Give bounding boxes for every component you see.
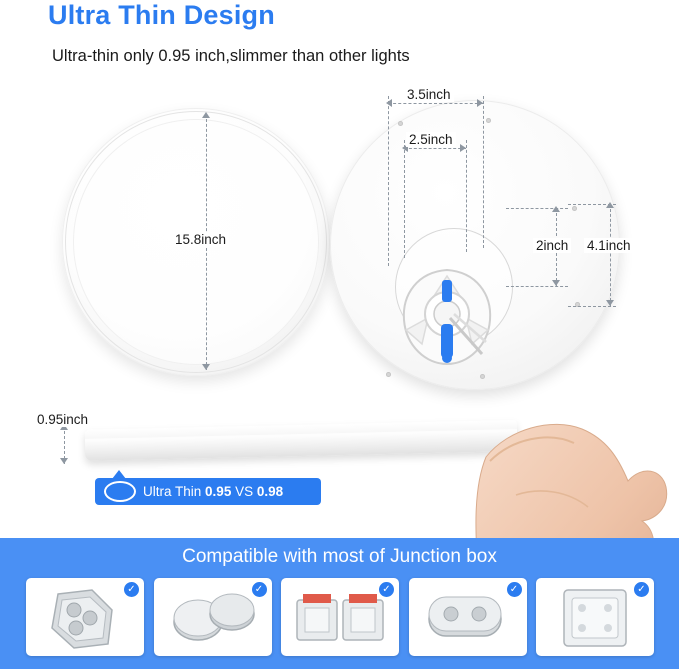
thickness-arrow-bottom [60,458,68,464]
outer-spacing-guide-bottom [568,306,616,307]
junction-box-card-2[interactable]: ✓ [154,578,272,656]
screw-hole [386,372,391,377]
thin-badge-text: Ultra Thin 0.95 VS 0.98 [143,484,283,499]
bracket-width-arrow-left [386,99,392,107]
hole-spacing-arrow-top [552,206,560,212]
bracket-width-line [388,103,483,104]
check-icon: ✓ [252,582,267,597]
thin-badge-prefix: Ultra Thin [143,484,201,499]
junction-box-card-3[interactable]: ✓ [281,578,399,656]
page-subtitle: Ultra-thin only 0.95 inch,slimmer than o… [52,47,410,66]
bracket-width-label: 3.5inch [404,87,454,102]
mounting-bracket-icon [382,258,512,388]
hole-spacing-arrow-bottom [552,280,560,286]
junction-box-list: ✓ ✓ [26,578,654,656]
thin-disc-icon [104,481,136,502]
hole-spacing-guide-bottom [506,286,568,287]
bracket-width-arrow-right [477,99,483,107]
front-diameter-arrow-bottom [202,364,210,370]
outer-spacing-line [610,204,611,306]
check-icon: ✓ [634,582,649,597]
check-icon: ✓ [124,582,139,597]
bracket-width-guide-left [388,96,389,266]
junction-box-card-4[interactable]: ✓ [409,578,527,656]
thin-badge-vs: VS [235,484,253,499]
inner-bracket-line [404,148,466,149]
hole-spacing-label: 2inch [533,238,571,253]
outer-spacing-arrow-top [606,202,614,208]
page-title: Ultra Thin Design [48,0,275,31]
inner-bracket-guide-left [404,140,405,258]
inner-bracket-arrow-right [460,144,466,152]
outer-spacing-arrow-bottom [606,300,614,306]
thin-badge-compare: 0.98 [257,484,283,499]
check-icon: ✓ [379,582,394,597]
check-icon: ✓ [507,582,522,597]
outer-spacing-label: 4.1inch [584,238,634,253]
front-diameter-label: 15.8inch [172,232,229,247]
inner-bracket-label: 2.5inch [406,132,456,147]
front-diameter-arrow-top [202,112,210,118]
thickness-label: 0.95inch [34,412,91,427]
compatibility-title: Compatible with most of Junction box [0,546,679,568]
inner-bracket-guide-right [466,140,467,252]
screw-hole [486,118,491,123]
thin-badge-value: 0.95 [205,484,231,499]
junction-box-card-5[interactable]: ✓ [536,578,654,656]
screw-hole [572,206,577,211]
screw-hole [480,374,485,379]
bracket-width-guide-right [483,96,484,248]
junction-box-card-1[interactable]: ✓ [26,578,144,656]
product-infographic: Ultra Thin Design Ultra-thin only 0.95 i… [0,0,679,669]
screw-hole [398,121,403,126]
compatibility-section: Compatible with most of Junction box ✓ [0,538,679,669]
ultra-thin-badge: Ultra Thin 0.95 VS 0.98 [95,478,321,505]
